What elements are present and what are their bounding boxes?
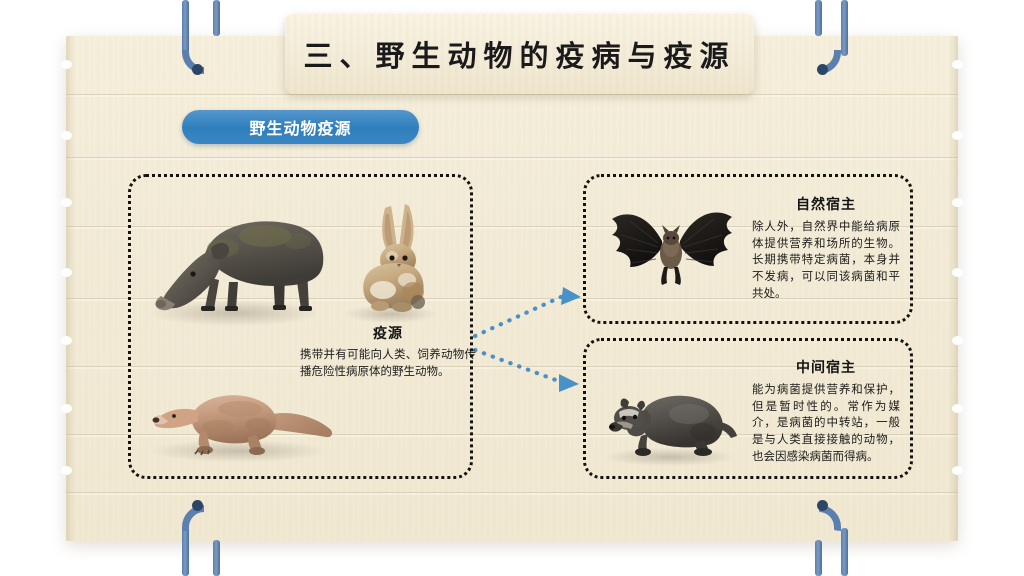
pin-bottom-right-hook-shaft <box>841 528 848 576</box>
plank-divider <box>66 157 958 160</box>
natural-host-text-block: 自然宿主 除人外，自然界中能给病原体提供营养和场所的生物。长期携带特定病菌，本身… <box>752 194 900 301</box>
pin-bottom-right-straight <box>815 540 822 576</box>
natural-host-heading: 自然宿主 <box>752 194 900 214</box>
board-notch <box>61 466 72 475</box>
intermediate-host-heading: 中间宿主 <box>752 357 900 377</box>
plank-divider <box>66 94 958 97</box>
pin-top-right-hook-shaft <box>841 0 848 56</box>
board-notch <box>952 404 963 413</box>
plank-divider <box>66 492 958 495</box>
pin-top-right-hook-tip <box>817 64 828 75</box>
pangolin-image <box>148 385 336 457</box>
pin-top-left-hook-shaft <box>182 0 189 56</box>
board-notch <box>952 268 963 277</box>
disease-source-body: 携带并有可能向人类、饲养动物传播危险性病原体的野生动物。 <box>300 346 476 379</box>
pin-bottom-left-hook-tip <box>192 500 203 511</box>
intermediate-host-text-block: 中间宿主 能为病菌提供营养和保护，但是暂时性的。常作为媒介，是病菌的中转站，一般… <box>752 357 900 464</box>
rabbit-image <box>345 198 443 316</box>
arrow-to-natural-host-head <box>561 287 581 305</box>
arrow-to-intermediate-host-line <box>475 350 561 382</box>
pin-bottom-left-hook-shaft <box>182 528 189 576</box>
pin-top-right-straight <box>815 0 822 36</box>
board-notch <box>952 336 963 345</box>
section-banner-label: 野生动物疫源 <box>249 115 351 139</box>
board-notch <box>61 268 72 277</box>
board-notch <box>952 198 963 207</box>
board-notch <box>61 198 72 207</box>
board-notch <box>952 466 963 475</box>
section-banner: 野生动物疫源 <box>182 110 419 144</box>
title-plaque: 三、野生动物的疫病与疫源 <box>285 14 754 94</box>
civet-image <box>603 378 738 458</box>
intermediate-host-body: 能为病菌提供营养和保护，但是暂时性的。常作为媒介，是病菌的中转站，一般是与人类直… <box>752 381 900 464</box>
board-notch <box>61 404 72 413</box>
board-notch <box>61 60 72 69</box>
disease-source-heading: 疫源 <box>300 323 476 343</box>
pin-bottom-right-hook-tip <box>817 500 828 511</box>
board-notch <box>61 336 72 345</box>
page-title: 三、野生动物的疫病与疫源 <box>303 33 735 75</box>
disease-source-text-block: 疫源 携带并有可能向人类、饲养动物传播危险性病原体的野生动物。 <box>300 323 476 379</box>
wild-boar-image <box>145 196 350 318</box>
board-notch <box>61 131 72 140</box>
board-notch <box>952 60 963 69</box>
natural-host-body: 除人外，自然界中能给病原体提供营养和场所的生物。长期携带特定病菌，本身并不发病，… <box>752 218 900 301</box>
arrow-to-intermediate-host-head <box>559 374 579 392</box>
slide-canvas: 三、野生动物的疫病与疫源 野生动物疫源 <box>0 0 1024 576</box>
arrow-to-natural-host-line <box>475 296 563 336</box>
bat-image <box>600 205 740 291</box>
pin-bottom-left-straight <box>213 540 220 576</box>
pin-top-left-hook-tip <box>192 64 203 75</box>
pin-top-left-straight <box>213 0 220 36</box>
board-notch <box>952 131 963 140</box>
